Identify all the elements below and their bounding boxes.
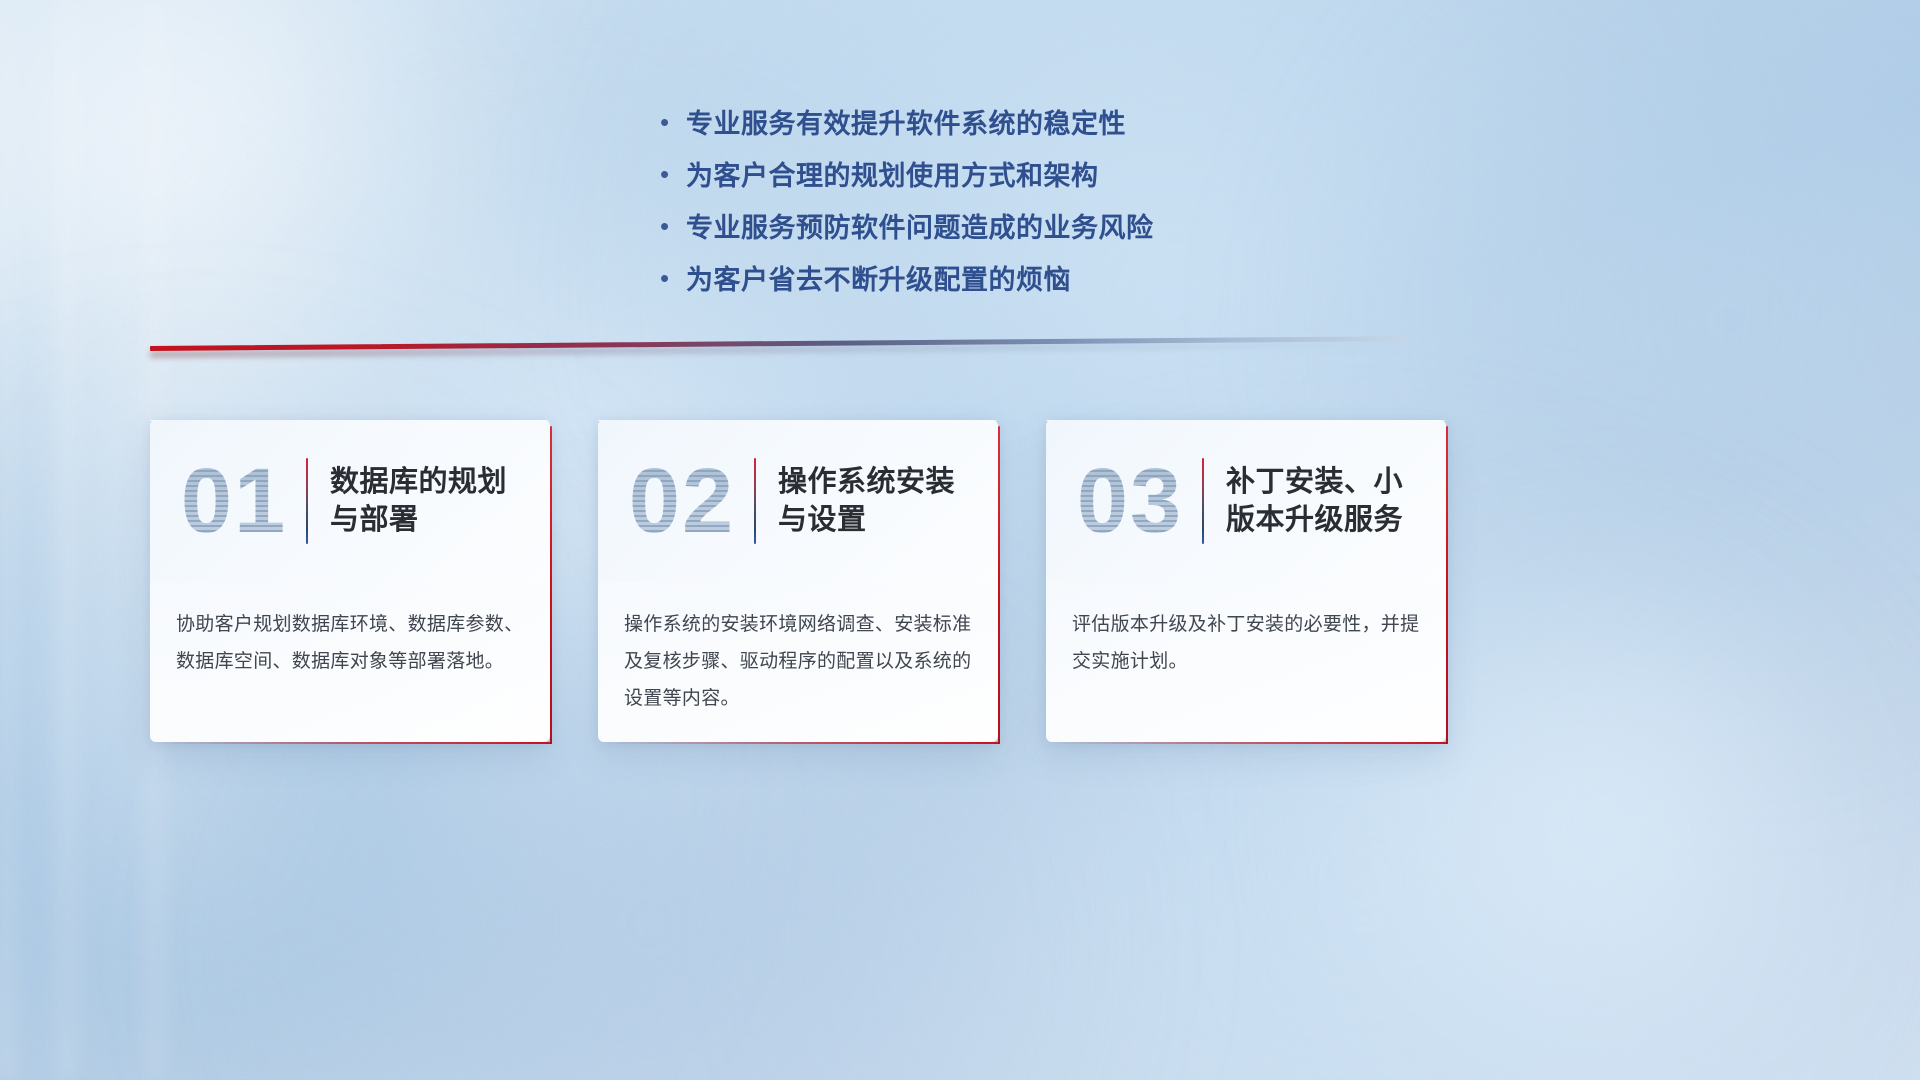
service-card-02[interactable]: 02 操作系统安装与设置 操作系统的安装环境网络调查、安装标准及复核步骤、驱动程… xyxy=(598,420,998,742)
service-card-01[interactable]: 01 数据库的规划与部署 协助客户规划数据库环境、数据库参数、数据库空间、数据库… xyxy=(150,420,550,742)
bullet-dot-icon: • xyxy=(660,213,686,239)
card-number: 03 xyxy=(1064,455,1196,547)
list-item: • 为客户省去不断升级配置的烦恼 xyxy=(660,252,1420,303)
card-title: 数据库的规划与部署 xyxy=(330,463,528,540)
card-description: 操作系统的安装环境网络调查、安装标准及复核步骤、驱动程序的配置以及系统的设置等内… xyxy=(598,582,998,717)
card-number: 01 xyxy=(168,455,300,547)
card-header: 03 补丁安装、小版本升级服务 xyxy=(1046,420,1446,582)
card-bottom-accent xyxy=(1056,742,1448,744)
bullet-text: 专业服务有效提升软件系统的稳定性 xyxy=(686,102,1126,141)
bullet-text: 专业服务预防软件问题造成的业务风险 xyxy=(686,206,1154,245)
card-bottom-accent xyxy=(608,742,1000,744)
service-card-03[interactable]: 03 补丁安装、小版本升级服务 评估版本升级及补丁安装的必要性，并提交实施计划。 xyxy=(1046,420,1446,742)
list-item: • 专业服务预防软件问题造成的业务风险 xyxy=(660,200,1420,251)
bullet-dot-icon: • xyxy=(660,265,686,291)
card-divider-icon xyxy=(306,458,308,544)
card-header: 02 操作系统安装与设置 xyxy=(598,420,998,582)
card-divider-icon xyxy=(754,458,756,544)
card-title: 补丁安装、小版本升级服务 xyxy=(1226,463,1424,540)
benefits-bullet-list: • 专业服务有效提升软件系统的稳定性 • 为客户合理的规划使用方式和架构 • 专… xyxy=(660,96,1420,304)
card-number: 02 xyxy=(616,455,748,547)
card-description: 评估版本升级及补丁安装的必要性，并提交实施计划。 xyxy=(1046,582,1446,680)
card-divider-icon xyxy=(1202,458,1204,544)
card-description: 协助客户规划数据库环境、数据库参数、数据库空间、数据库对象等部署落地。 xyxy=(150,582,550,680)
slide-root: • 专业服务有效提升软件系统的稳定性 • 为客户合理的规划使用方式和架构 • 专… xyxy=(0,0,1920,1080)
card-bottom-accent xyxy=(160,742,552,744)
bullet-text: 为客户合理的规划使用方式和架构 xyxy=(686,154,1099,193)
section-divider xyxy=(150,340,1410,364)
bullet-dot-icon: • xyxy=(660,109,686,135)
card-header: 01 数据库的规划与部署 xyxy=(150,420,550,582)
bullet-text: 为客户省去不断升级配置的烦恼 xyxy=(686,258,1071,297)
bullet-dot-icon: • xyxy=(660,161,686,187)
list-item: • 为客户合理的规划使用方式和架构 xyxy=(660,148,1420,199)
list-item: • 专业服务有效提升软件系统的稳定性 xyxy=(660,96,1420,147)
service-card-group: 01 数据库的规划与部署 协助客户规划数据库环境、数据库参数、数据库空间、数据库… xyxy=(150,420,1450,750)
card-title: 操作系统安装与设置 xyxy=(778,463,976,540)
